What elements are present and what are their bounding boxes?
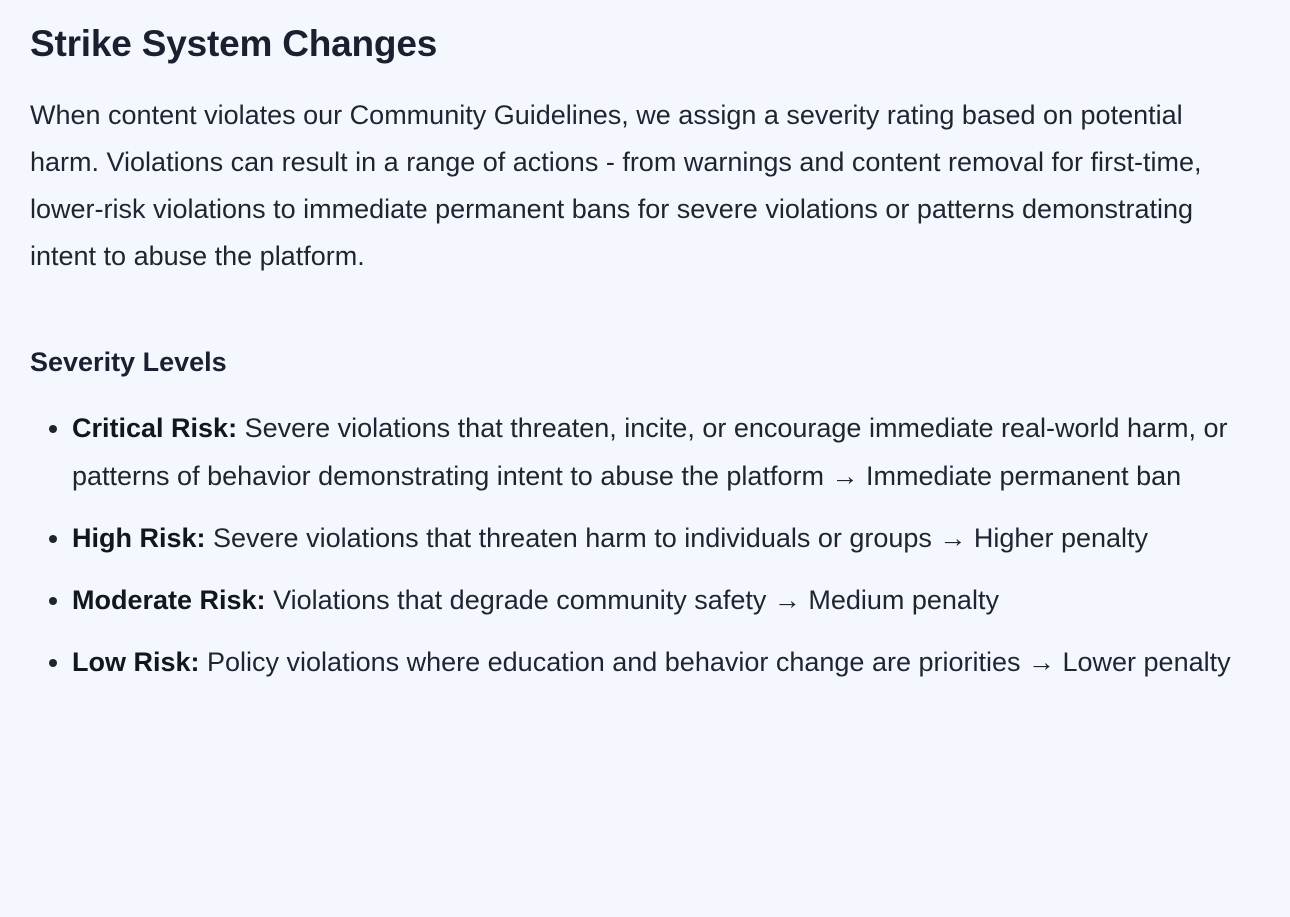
severity-label: High Risk: bbox=[72, 523, 206, 553]
severity-description: Severe violations that threaten, incite,… bbox=[72, 413, 1228, 491]
intro-paragraph: When content violates our Community Guid… bbox=[30, 92, 1256, 280]
bullet-dot-icon bbox=[49, 535, 57, 543]
section-heading-severity-levels: Severity Levels bbox=[30, 346, 1256, 380]
list-item: Moderate Risk: Violations that degrade c… bbox=[30, 576, 1256, 624]
bullet-dot-icon bbox=[49, 597, 57, 605]
severity-description: Severe violations that threaten harm to … bbox=[206, 523, 1149, 553]
page-title: Strike System Changes bbox=[30, 22, 1256, 66]
list-item: Low Risk: Policy violations where educat… bbox=[30, 638, 1256, 686]
severity-description: Policy violations where education and be… bbox=[200, 647, 1231, 677]
document-page: Strike System Changes When content viola… bbox=[0, 0, 1290, 917]
severity-label: Moderate Risk: bbox=[72, 585, 266, 615]
severity-levels-list: Critical Risk: Severe violations that th… bbox=[30, 404, 1256, 686]
severity-label: Low Risk: bbox=[72, 647, 200, 677]
bullet-dot-icon bbox=[49, 425, 57, 433]
severity-label: Critical Risk: bbox=[72, 413, 237, 443]
list-item: High Risk: Severe violations that threat… bbox=[30, 514, 1256, 562]
list-item: Critical Risk: Severe violations that th… bbox=[30, 404, 1256, 500]
severity-description: Violations that degrade community safety… bbox=[266, 585, 999, 615]
bullet-dot-icon bbox=[49, 659, 57, 667]
